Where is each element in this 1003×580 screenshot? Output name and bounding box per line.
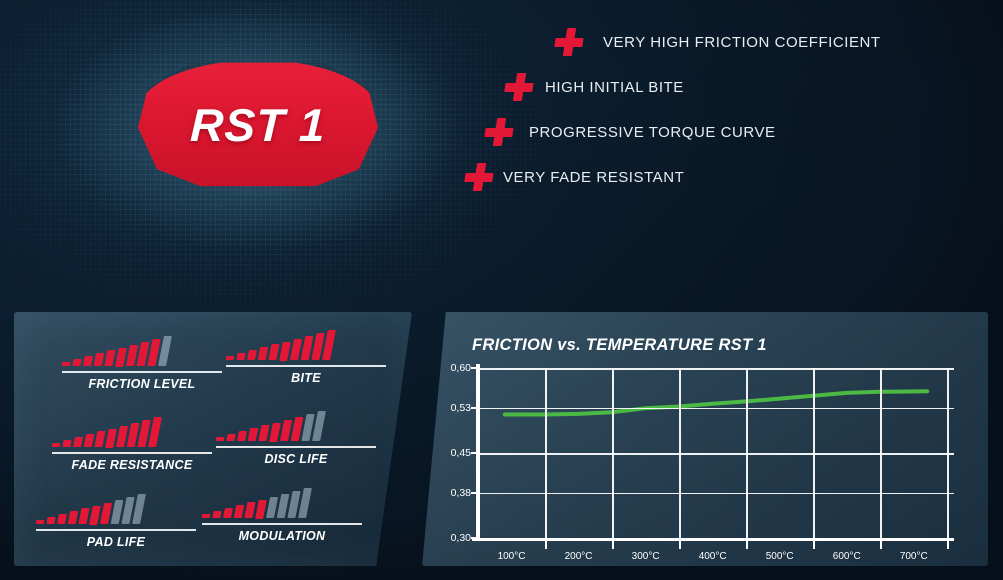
y-tick-label: 0,60 [451,362,471,374]
y-tick-label: 0,38 [451,487,471,499]
y-gridline [478,538,954,540]
x-gridline [880,368,882,538]
rating-meter [216,411,376,441]
rating-underline [52,452,212,454]
rating-bar [216,437,225,441]
rating-meter [36,494,196,524]
feature-item: VERY HIGH FRICTION COEFFICIENT [555,28,985,56]
rating-label: BITE [226,371,386,385]
feature-label: VERY HIGH FRICTION COEFFICIENT [603,34,881,51]
rating-bar [89,506,101,525]
rating-bar [115,348,127,367]
y-gridline [478,453,954,455]
rating-bar [237,431,247,441]
x-gridline [478,368,480,538]
rating-bar [279,342,291,361]
rating-underline [202,523,362,525]
rating-underline [216,446,376,448]
series-line-rst-1 [505,391,927,414]
rating-bar [244,502,255,518]
x-gridline [545,368,547,538]
x-tick-label: 600°C [833,551,861,562]
rating-pad-life: PAD LIFE [36,494,196,549]
chart-y-axis-label: COEFFICIENT OF FRICTION [419,266,429,402]
chart-plot-area: 0,600,530,450,380,30100°C200°C300°C400°C… [478,368,954,538]
feature-label: VERY FADE RESISTANT [503,169,684,186]
rating-bar [258,347,268,360]
feature-item: PROGRESSIVE TORQUE CURVE [485,118,985,146]
rating-label: MODULATION [202,529,362,543]
x-tick-label: 700°C [900,551,928,562]
rating-underline [62,371,222,373]
y-gridline [478,368,954,370]
rating-underline [226,365,386,367]
rating-meter [202,488,362,518]
y-tick-label: 0,45 [451,447,471,459]
rating-underline [36,529,196,531]
rating-friction-level: FRICTION LEVEL [62,336,222,391]
x-gridline [813,368,815,538]
y-gridline [478,493,954,495]
y-gridline [478,408,954,410]
rating-bar [269,423,281,442]
x-tick-mark [679,541,681,549]
chart-panel: FRICTION vs. TEMPERATURE RST 1 COEFFICIE… [422,312,988,566]
feature-label: PROGRESSIVE TORQUE CURVE [529,124,776,141]
rating-bar [36,520,45,524]
logo-text: RST 1 [136,60,381,190]
rating-meter [226,330,386,360]
y-tick-mark [471,452,476,454]
rating-bar [62,440,71,447]
rating-label: PAD LIFE [36,535,196,549]
rating-fade-resistance: FADE RESISTANCE [52,417,212,472]
rating-bar [234,505,244,518]
x-gridline [612,368,614,538]
rating-bar [84,434,94,447]
y-tick-mark [471,367,476,369]
x-tick-mark [545,541,547,549]
x-tick-mark [746,541,748,549]
rating-disc-life: DISC LIFE [216,411,376,466]
x-tick-label: 400°C [699,551,727,562]
rating-bar [258,425,269,441]
rating-bar [73,437,83,447]
rating-bar [226,434,235,441]
rating-bar [255,500,267,519]
rating-modulation: MODULATION [202,488,362,543]
rating-bar [223,508,233,518]
infographic-stage: RST 1 VERY HIGH FRICTION COEFFICIENTHIGH… [0,0,1003,580]
feature-list: VERY HIGH FRICTION COEFFICIENTHIGH INITI… [505,28,985,208]
rating-bar [226,356,235,360]
rating-bar [57,514,67,524]
x-tick-mark [612,541,614,549]
y-tick-label: 0,53 [451,402,471,414]
rating-bar [72,359,81,366]
ratings-panel: FRICTION LEVELBITEFADE RESISTANCEDISC LI… [14,312,412,566]
rating-meter [52,417,212,447]
chart-title: FRICTION vs. TEMPERATURE RST 1 [472,336,767,355]
rating-label: FADE RESISTANCE [52,458,212,472]
plus-icon [503,73,535,101]
x-tick-label: 500°C [766,551,794,562]
rating-bar [62,362,71,366]
rating-label: FRICTION LEVEL [62,377,222,391]
x-tick-mark [880,541,882,549]
rating-bar [94,353,104,366]
x-tick-mark [813,541,815,549]
feature-label: HIGH INITIAL BITE [545,79,684,96]
rating-meter [62,336,222,366]
rating-bar [94,431,105,447]
rating-bar [83,356,93,366]
x-gridline [947,368,949,538]
x-tick-mark [947,541,949,549]
y-tick-mark [471,492,476,494]
rating-bar [104,350,115,366]
rating-bar [78,508,89,524]
plus-icon [483,118,515,146]
rating-bar [68,511,78,524]
feature-item: VERY FADE RESISTANT [465,163,985,191]
rating-bar [212,511,221,518]
plus-icon [463,163,495,191]
rating-bar [46,517,55,524]
product-logo: RST 1 [98,40,418,220]
x-gridline [746,368,748,538]
x-tick-label: 300°C [632,551,660,562]
x-tick-label: 200°C [565,551,593,562]
x-tick-label: 100°C [498,551,526,562]
rating-label: DISC LIFE [216,452,376,466]
rating-bar [236,353,245,360]
plus-icon [553,28,585,56]
rating-bar [247,350,257,360]
rating-bite: BITE [226,330,386,385]
feature-item: HIGH INITIAL BITE [505,73,985,101]
x-gridline [679,368,681,538]
rating-bar [268,344,279,360]
y-tick-mark [471,537,476,539]
y-tick-label: 0,30 [451,532,471,544]
rating-bar [52,443,61,447]
y-tick-mark [471,407,476,409]
rating-bar [248,428,258,441]
rating-bar [202,514,211,518]
rating-bar [105,429,117,448]
